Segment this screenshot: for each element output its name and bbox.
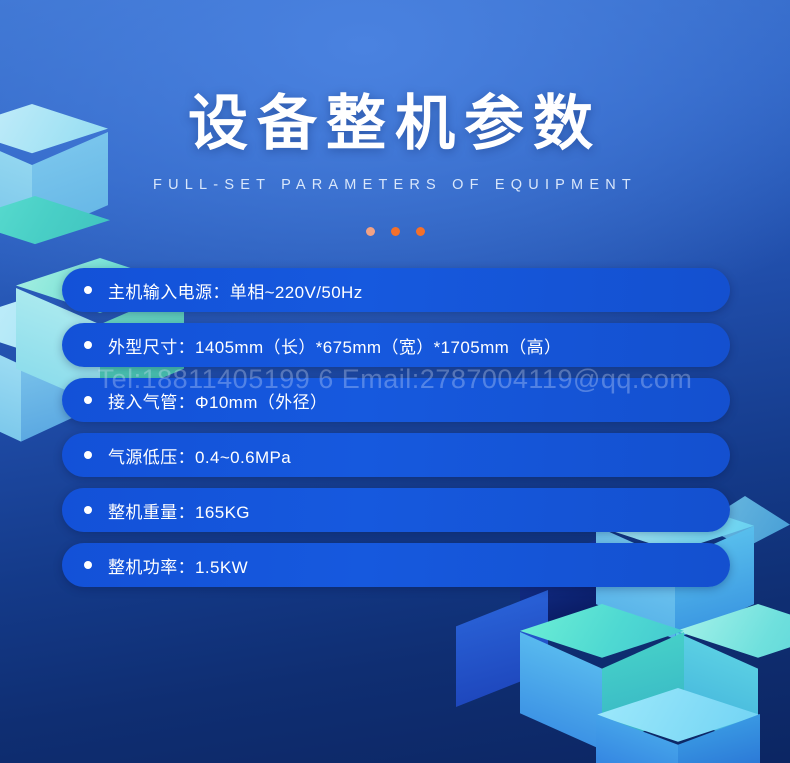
dot-3 — [416, 227, 425, 236]
bullet-icon — [84, 286, 92, 294]
bullet-icon — [84, 341, 92, 349]
bullet-icon — [84, 451, 92, 459]
spec-list: 主机输入电源：单相~220V/50Hz 外型尺寸：1405mm（长）*675mm… — [0, 268, 790, 587]
cube-face-right-top-4 — [596, 688, 760, 763]
list-item: 外型尺寸：1405mm（长）*675mm（宽）*1705mm（高） — [62, 323, 730, 367]
list-item: 气源低压：0.4~0.6MPa — [62, 433, 730, 477]
spec-text: 接入气管：Φ10mm（外径） — [108, 388, 327, 413]
bullet-icon — [84, 396, 92, 404]
dot-2 — [391, 227, 400, 236]
list-item: 接入气管：Φ10mm（外径） — [62, 378, 730, 422]
page-title: 设备整机参数 — [0, 92, 790, 155]
dot-1 — [366, 227, 375, 236]
spec-text: 主机输入电源：单相~220V/50Hz — [108, 278, 363, 303]
page-subtitle: FULL-SET PARAMETERS OF EQUIPMENT — [0, 177, 790, 193]
bullet-icon — [84, 506, 92, 514]
header: 设备整机参数 FULL-SET PARAMETERS OF EQUIPMENT — [0, 0, 790, 236]
spec-text: 气源低压：0.4~0.6MPa — [108, 443, 291, 468]
spec-text: 整机功率：1.5KW — [108, 553, 248, 578]
list-item: 整机重量：165KG — [62, 488, 730, 532]
spec-text: 整机重量：165KG — [108, 498, 250, 523]
cube-face-right-top-3 — [676, 604, 790, 700]
list-item: 主机输入电源：单相~220V/50Hz — [62, 268, 730, 312]
cube-face-right-right-2 — [602, 632, 684, 763]
cube-face-right-right-4 — [678, 714, 760, 763]
cube-face-right-left-2 — [520, 632, 602, 763]
cube-face-right-top-2 — [520, 604, 684, 700]
list-item: 整机功率：1.5KW — [62, 543, 730, 587]
spec-text: 外型尺寸：1405mm（长）*675mm（宽）*1705mm（高） — [108, 333, 561, 358]
cube-face-right-left-4 — [596, 714, 678, 763]
cube-face-right-blue — [456, 590, 548, 720]
poster-page: 设备整机参数 FULL-SET PARAMETERS OF EQUIPMENT … — [0, 0, 790, 763]
bullet-icon — [84, 561, 92, 569]
cube-face-right-left-3 — [676, 632, 758, 763]
decorative-dots — [0, 227, 790, 236]
